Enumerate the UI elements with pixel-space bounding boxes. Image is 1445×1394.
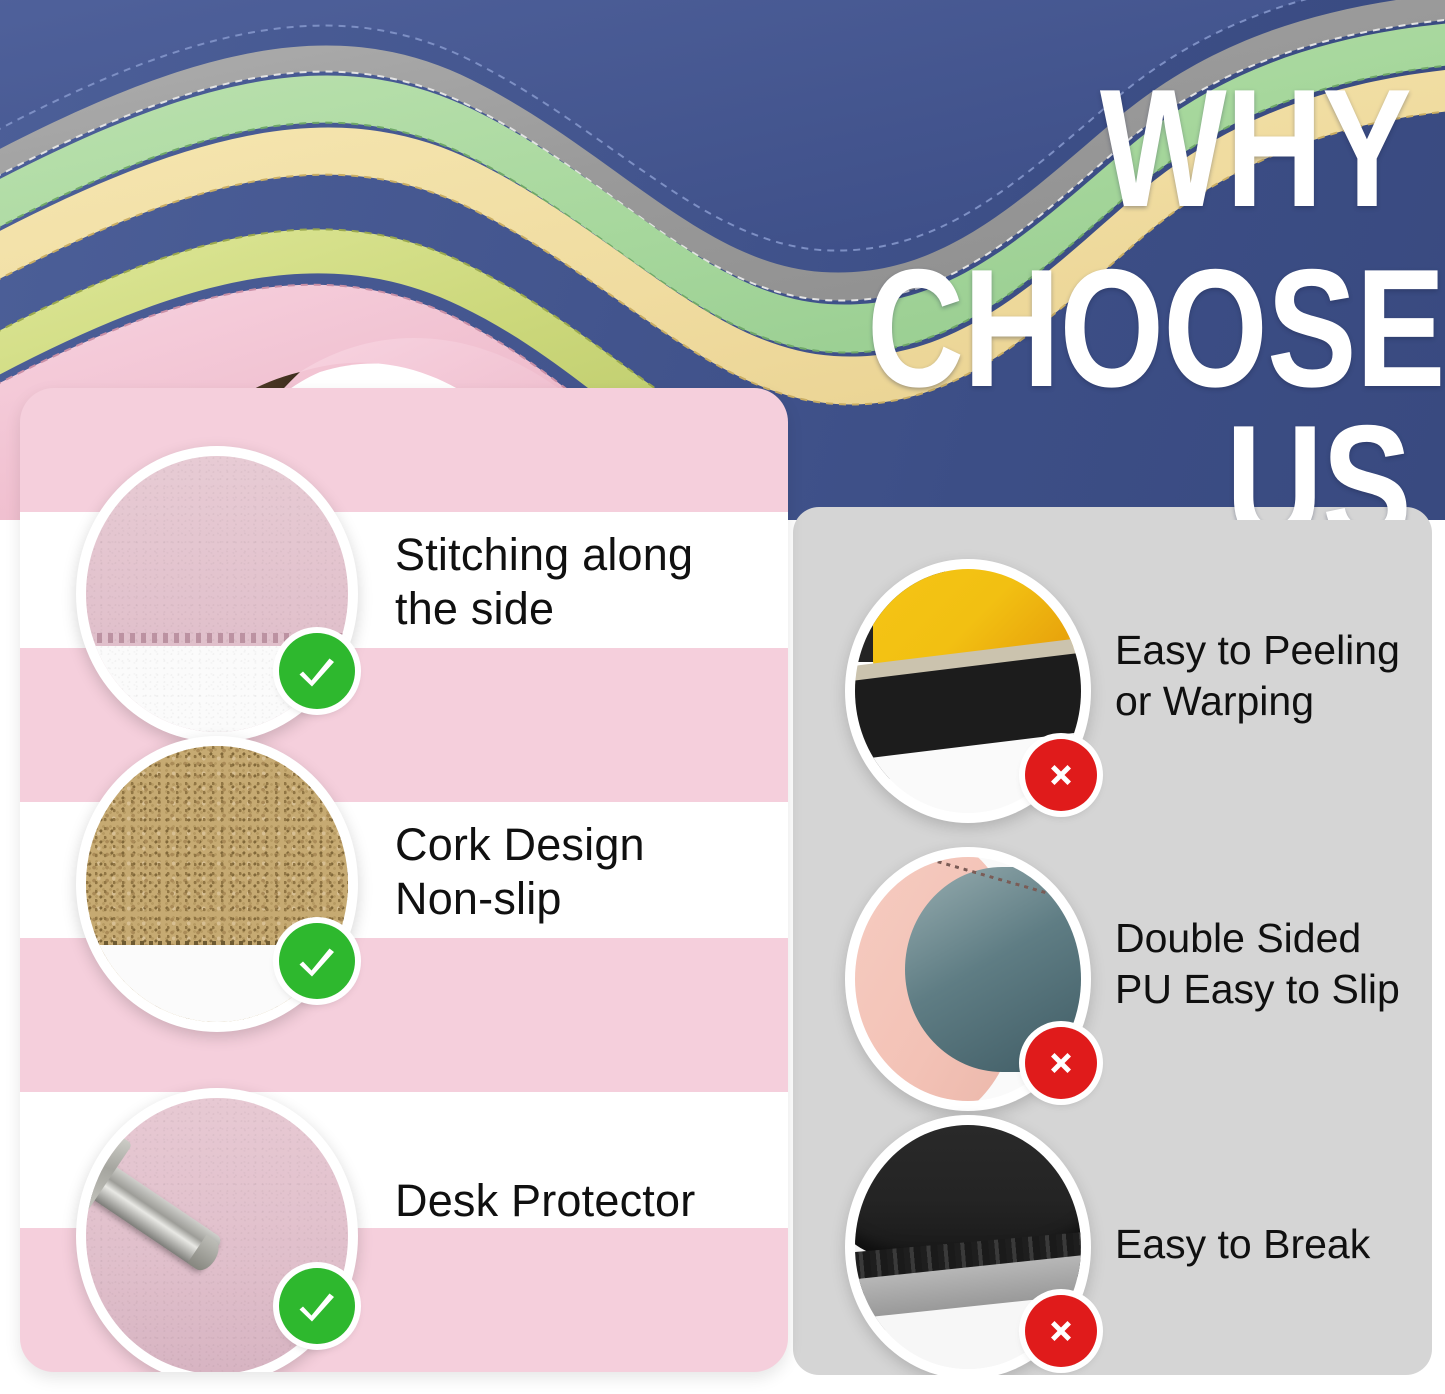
product-advantages-card: Stitching along the side Cork Design Non…: [20, 388, 788, 1372]
check-icon: [279, 633, 355, 709]
cons-item-2-line-1: Double Sided: [1115, 915, 1361, 961]
cross-icon: [1025, 739, 1097, 811]
pros-item-2-line-1: Cork Design: [395, 819, 645, 870]
cross-icon: [1025, 1295, 1097, 1367]
cross-icon: [1025, 1027, 1097, 1099]
cons-item-label-1: Easy to Peeling or Warping: [1115, 625, 1400, 728]
competitor-drawbacks-panel: Easy to Peeling or Warping Double Sided …: [793, 507, 1432, 1375]
cons-item-1-line-2: or Warping: [1115, 678, 1314, 724]
pros-item-1-line-1: Stitching along: [395, 529, 693, 580]
pros-item-1-line-2: the side: [395, 583, 554, 634]
cons-item-2-line-2: PU Easy to Slip: [1115, 966, 1400, 1012]
pros-item-label-2: Cork Design Non-slip: [395, 818, 645, 926]
pros-item-label-3: Desk Protector: [395, 1174, 695, 1228]
pros-item-label-1: Stitching along the side: [395, 528, 693, 636]
cons-item-label-3: Easy to Break: [1115, 1219, 1370, 1270]
cons-item-label-2: Double Sided PU Easy to Slip: [1115, 913, 1400, 1016]
check-icon: [279, 1268, 355, 1344]
cons-item-1-line-1: Easy to Peeling: [1115, 627, 1400, 673]
cons-item-3-line-1: Easy to Break: [1115, 1221, 1370, 1267]
pros-item-2-line-2: Non-slip: [395, 873, 562, 924]
pros-item-3-line-1: Desk Protector: [395, 1175, 695, 1226]
check-icon: [279, 923, 355, 999]
